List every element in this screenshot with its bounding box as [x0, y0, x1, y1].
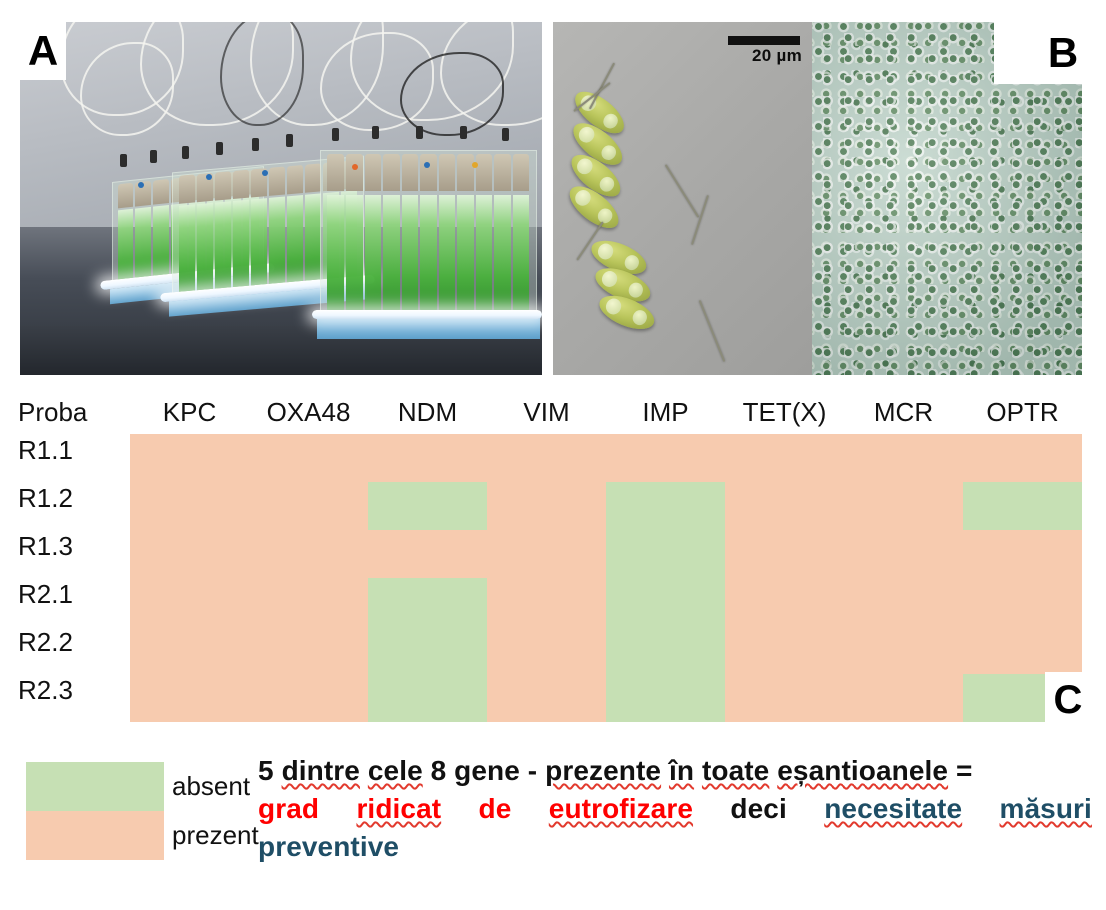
heatmap-cell: [725, 434, 844, 482]
heatmap-cell: [130, 578, 249, 626]
conclusion-word: [661, 755, 669, 786]
heatmap-cell: [368, 674, 487, 722]
heatmap-cell: [249, 626, 368, 674]
valve-marker: [472, 162, 478, 168]
rack-base: [317, 316, 541, 340]
valve-marker: [424, 162, 430, 168]
heatmap-cell: [130, 434, 249, 482]
conclusion-text: 5 dintre cele 8 gene - prezente în toate…: [258, 752, 1092, 865]
conclusion-word: de: [479, 790, 512, 828]
algae-spine: [699, 300, 726, 362]
algae-spine: [665, 164, 700, 218]
conclusion-word: necesitate: [824, 790, 962, 828]
conclusion-word: toate: [702, 755, 769, 786]
heatmap-cell: [249, 578, 368, 626]
conclusion-word: =: [948, 755, 972, 786]
grow-lamp: [312, 310, 542, 319]
heatmap-cell: [487, 530, 606, 578]
heatmap-col-header-optr: OPTR: [963, 392, 1082, 432]
conclusion-word: prezente: [545, 755, 661, 786]
heatmap-cell: [130, 626, 249, 674]
heatmap-cell: [249, 674, 368, 722]
heatmap-cell: [606, 626, 725, 674]
heatmap-row-header-r2-1: R2.1: [18, 570, 118, 618]
heatmap-cell: [963, 482, 1082, 530]
panel-c-gene-heatmap: Proba KPCOXA48NDMVIMIMPTET(X)MCROPTR R1.…: [0, 392, 1106, 732]
heatmap-cell: [606, 578, 725, 626]
aeration-clip: [252, 138, 259, 151]
heatmap-cell: [606, 530, 725, 578]
valve-marker: [138, 182, 144, 188]
heatmap-legend: absent prezent: [26, 762, 266, 872]
heatmap-cell: [844, 434, 963, 482]
panel-label-b: B: [1040, 22, 1086, 84]
heatmap-cell: [487, 482, 606, 530]
conclusion-word: [694, 755, 702, 786]
heatmap-row-header-r1-2: R1.2: [18, 474, 118, 522]
heatmap-cell: [130, 530, 249, 578]
heatmap-cell: [963, 626, 1082, 674]
conclusion-word: grad: [258, 790, 319, 828]
conclusion-word: eșantioanele: [777, 755, 948, 786]
heatmap-cell: [368, 482, 487, 530]
heatmap-row-header-r1-1: R1.1: [18, 426, 118, 474]
conclusion-line-2: gradridicatdeeutrofizaredecinecesitatemă…: [258, 790, 1092, 828]
conclusion-word: preventive: [258, 831, 399, 862]
algae-spine: [691, 195, 709, 245]
heatmap-cell: [963, 530, 1082, 578]
heatmap-cell: [725, 482, 844, 530]
heatmap-cell: [130, 482, 249, 530]
heatmap-cell: [725, 626, 844, 674]
heatmap-grid: [130, 434, 1082, 722]
conclusion-word: deci: [730, 790, 786, 828]
heatmap-cell: [368, 578, 487, 626]
panel-a-photobioreactor-photo: [20, 22, 542, 375]
heatmap-cell: [844, 626, 963, 674]
heatmap-cell: [487, 578, 606, 626]
heatmap-cell: [844, 578, 963, 626]
valve-marker: [352, 164, 358, 170]
heatmap-cell: [725, 530, 844, 578]
heatmap-cell: [249, 482, 368, 530]
heatmap-cell: [368, 434, 487, 482]
heatmap-column-headers: KPCOXA48NDMVIMIMPTET(X)MCROPTR: [0, 392, 1106, 432]
rack-culture-tubes: [327, 195, 529, 313]
aeration-clip: [150, 150, 157, 163]
aeration-clip: [416, 126, 423, 139]
valve-marker: [206, 174, 212, 180]
heatmap-col-header-imp: IMP: [606, 392, 725, 432]
heatmap-cell: [963, 578, 1082, 626]
heatmap-cell: [606, 674, 725, 722]
rack-caps: [327, 154, 529, 191]
heatmap-cell: [725, 578, 844, 626]
aeration-clip: [502, 128, 509, 141]
conclusion-word: eutrofizare: [549, 790, 693, 828]
valve-marker: [262, 170, 268, 176]
heatmap-col-header-vim: VIM: [487, 392, 606, 432]
aeration-clip: [372, 126, 379, 139]
culture-rack: [320, 150, 537, 320]
heatmap-cell: [844, 674, 963, 722]
heatmap-col-header-mcr: MCR: [844, 392, 963, 432]
conclusion-word: măsuri: [1000, 790, 1092, 828]
heatmap-col-header-ndm: NDM: [368, 392, 487, 432]
legend-label-prezent: prezent: [172, 821, 259, 850]
aeration-clip: [332, 128, 339, 141]
panel-label-a: A: [20, 22, 66, 80]
conclusion-word: 5: [258, 755, 282, 786]
legend-swatches: [26, 762, 164, 860]
heatmap-col-header-tetx: TET(X): [725, 392, 844, 432]
heatmap-cell: [606, 434, 725, 482]
heatmap-row-header-r1-3: R1.3: [18, 522, 118, 570]
aeration-clip: [286, 134, 293, 147]
conclusion-line-3: preventive: [258, 828, 1092, 866]
heatmap-cell: [844, 530, 963, 578]
legend-label-absent: absent: [172, 772, 259, 801]
heatmap-cell: [487, 674, 606, 722]
heatmap-row-header-r2-3: R2.3: [18, 666, 118, 714]
conclusion-word: cele: [368, 755, 423, 786]
scale-bar-label: 20 µm: [752, 46, 802, 66]
conclusion-word: ridicat: [356, 790, 441, 828]
heatmap-cell: [368, 626, 487, 674]
aeration-clip: [460, 126, 467, 139]
heatmap-cell: [487, 626, 606, 674]
aeration-clip: [182, 146, 189, 159]
heatmap-col-header-oxa48: OXA48: [249, 392, 368, 432]
heatmap-cell: [844, 482, 963, 530]
panel-b-microscopy-left: 20 µm: [553, 22, 812, 375]
aeration-clip: [120, 154, 127, 167]
scale-bar: [728, 36, 800, 45]
panel-label-c: C: [1045, 672, 1091, 728]
heatmap-cell: [249, 434, 368, 482]
heatmap-cell: [368, 530, 487, 578]
heatmap-cell: [725, 674, 844, 722]
aeration-clip: [216, 142, 223, 155]
heatmap-cell: [487, 434, 606, 482]
heatmap-cell: [963, 434, 1082, 482]
heatmap-row-header-r2-2: R2.2: [18, 618, 118, 666]
heatmap-cell: [130, 674, 249, 722]
conclusion-word: [360, 755, 368, 786]
conclusion-word: 8 gene -: [423, 755, 545, 786]
legend-swatch-absent: [26, 762, 164, 811]
legend-swatch-prezent: [26, 811, 164, 860]
heatmap-col-header-kpc: KPC: [130, 392, 249, 432]
figure-top-panels: A 20 µm B: [0, 0, 1106, 382]
conclusion-word: dintre: [282, 755, 360, 786]
conclusion-word: în: [669, 755, 694, 786]
heatmap-cell: [606, 482, 725, 530]
legend-labels: absent prezent: [172, 762, 259, 860]
heatmap-cell: [249, 530, 368, 578]
conclusion-line-1: 5 dintre cele 8 gene - prezente în toate…: [258, 752, 1092, 790]
